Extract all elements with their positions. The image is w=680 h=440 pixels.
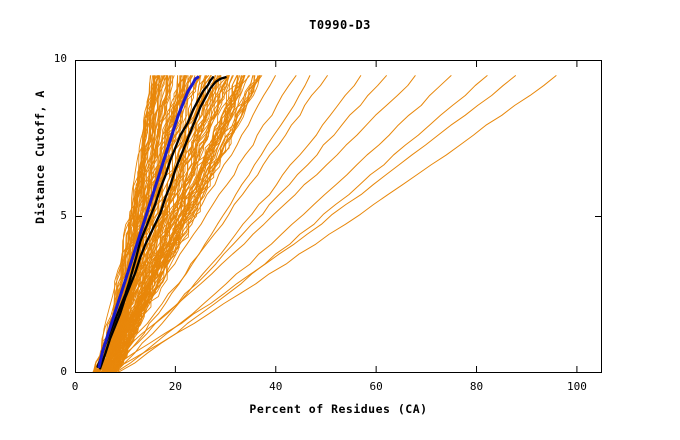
plot-area — [75, 60, 602, 373]
chart-root: T0990-D3 Distance Cutoff, A Percent of R… — [0, 0, 680, 440]
x-tick-label: 80 — [465, 380, 489, 393]
y-tick-label: 10 — [41, 52, 67, 65]
x-axis-label: Percent of Residues (CA) — [75, 402, 602, 416]
y-axis-label: Distance Cutoff, A — [33, 0, 47, 317]
chart-title: T0990-D3 — [0, 18, 680, 32]
x-tick-label: 20 — [163, 380, 187, 393]
x-tick-label: 100 — [565, 380, 589, 393]
y-tick-label: 0 — [41, 365, 67, 378]
y-axis-label-wrap: Distance Cutoff, A — [0, 0, 1, 1]
y-tick-label: 5 — [41, 209, 67, 222]
x-tick-label: 0 — [63, 380, 87, 393]
prediction-curves — [92, 76, 556, 373]
x-tick-label: 60 — [364, 380, 388, 393]
x-tick-label: 40 — [264, 380, 288, 393]
